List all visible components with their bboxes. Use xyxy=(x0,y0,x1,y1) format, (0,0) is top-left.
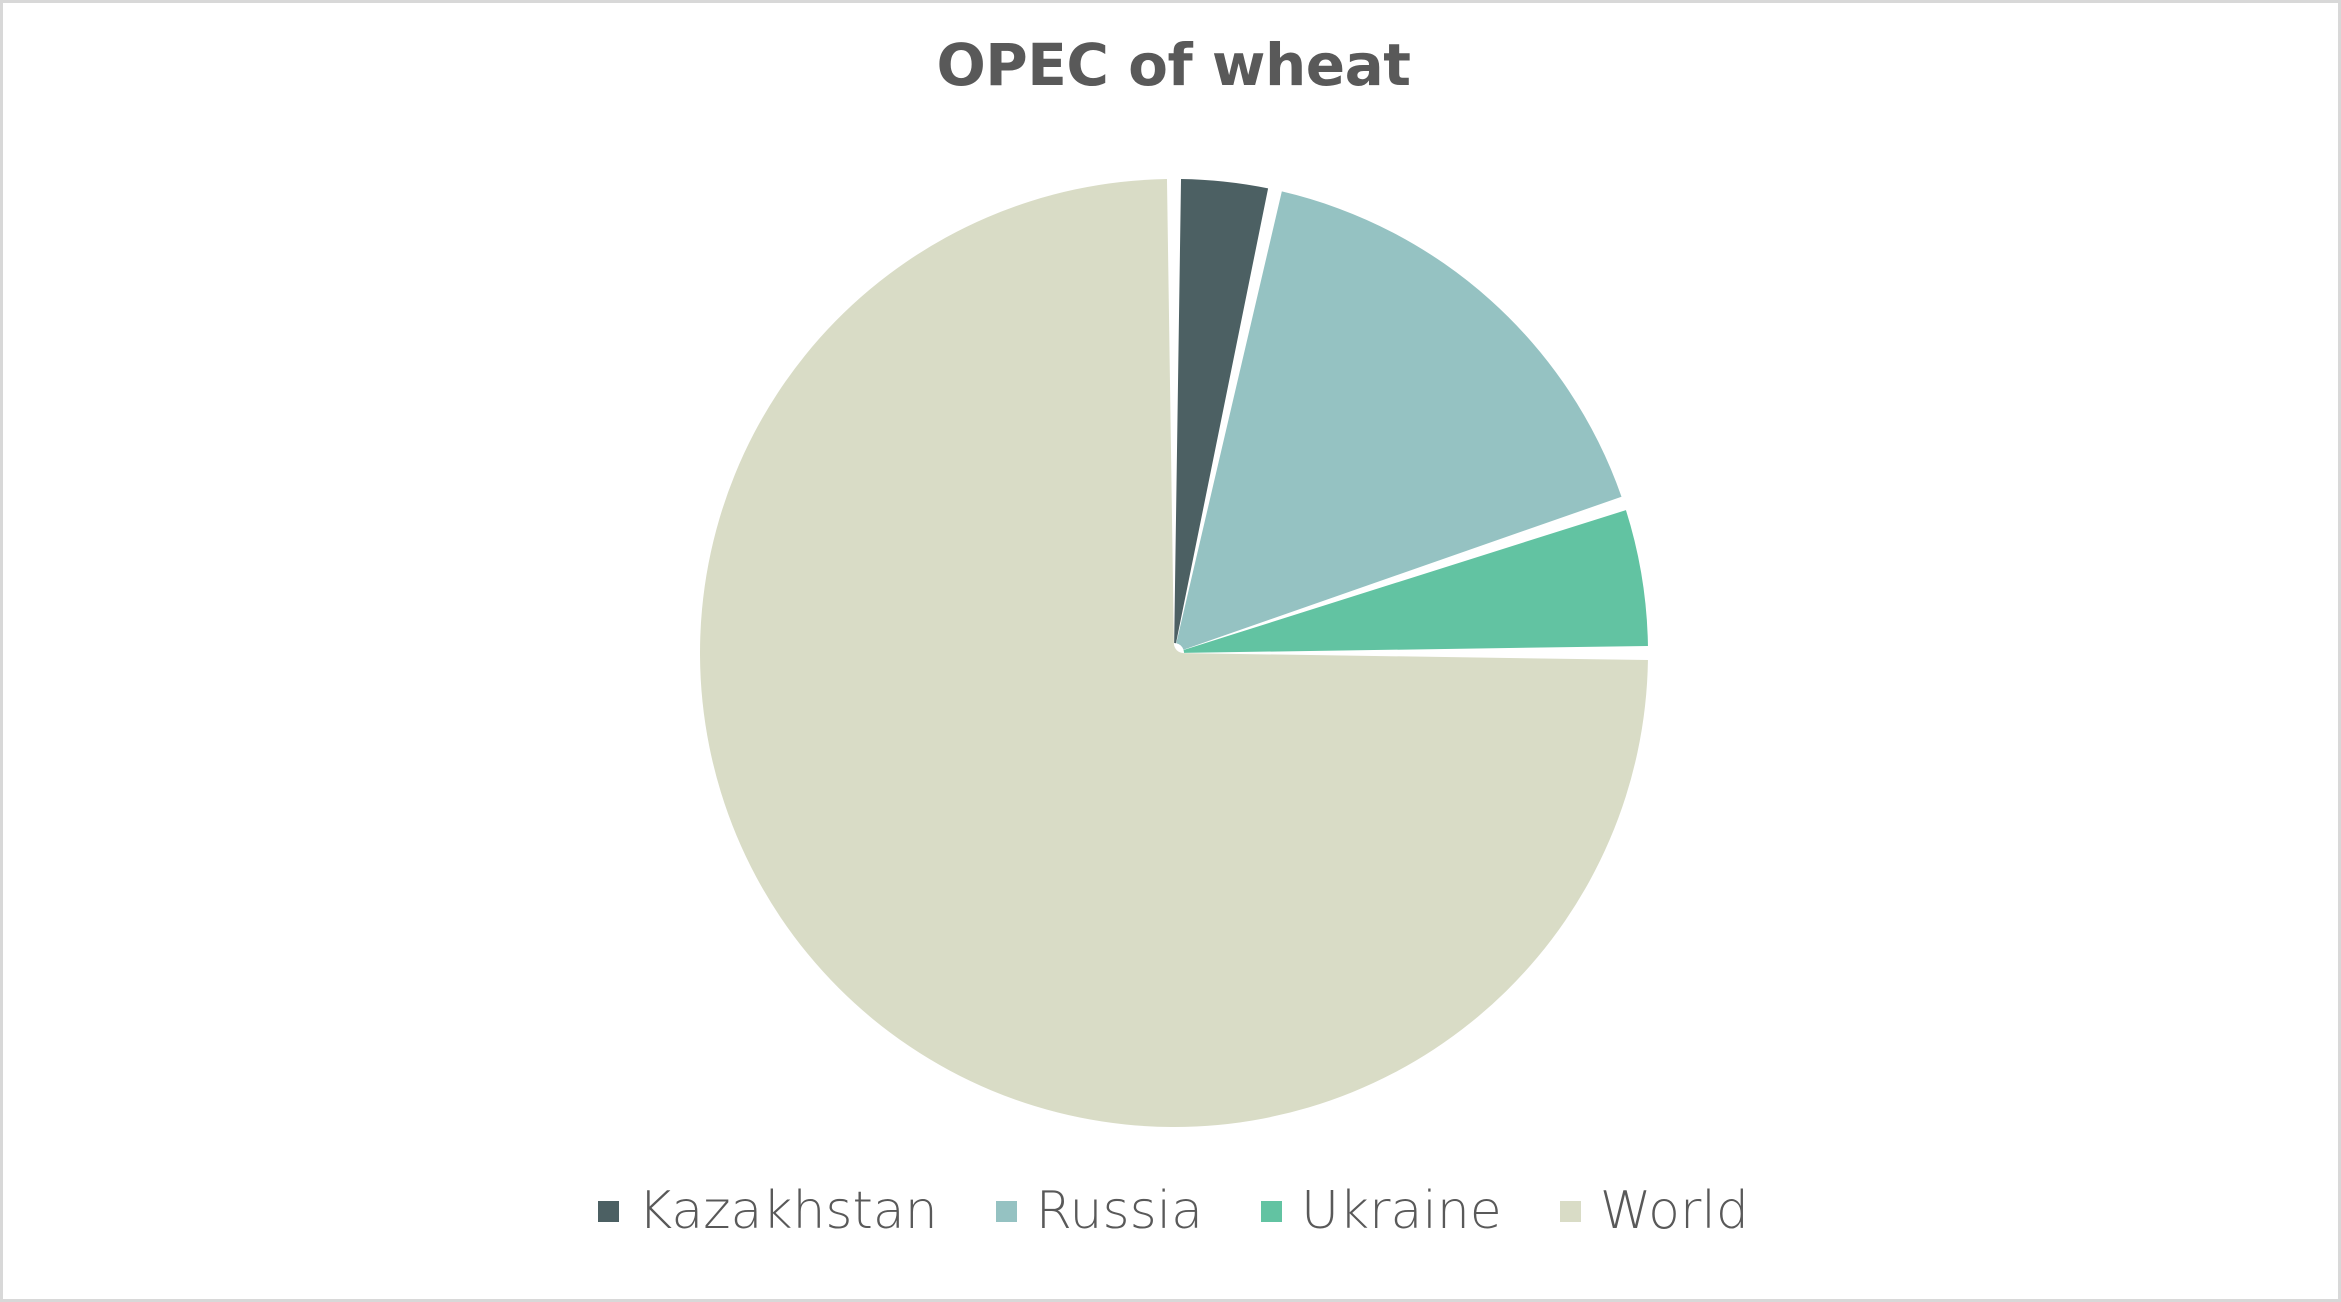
legend-swatch-icon xyxy=(1261,1201,1282,1222)
legend-item-world[interactable]: World xyxy=(1560,1185,1749,1237)
legend-swatch-icon xyxy=(1560,1201,1581,1222)
chart-container: OPEC of wheat KazakhstanRussiaUkraineWor… xyxy=(0,0,2341,1302)
legend-swatch-icon xyxy=(598,1201,619,1222)
legend-item-kazakhstan[interactable]: Kazakhstan xyxy=(598,1185,938,1237)
legend-item-russia[interactable]: Russia xyxy=(996,1185,1203,1237)
legend-item-label: Ukraine xyxy=(1301,1185,1502,1237)
pie-chart-svg xyxy=(3,3,2341,1183)
chart-legend: KazakhstanRussiaUkraineWorld xyxy=(3,1185,2341,1237)
legend-swatch-icon xyxy=(996,1201,1017,1222)
legend-item-ukraine[interactable]: Ukraine xyxy=(1261,1185,1502,1237)
legend-item-label: World xyxy=(1600,1185,1749,1237)
pie-plot-area xyxy=(3,3,2341,1183)
pie-slice-group xyxy=(700,179,1648,1127)
legend-item-label: Kazakhstan xyxy=(638,1185,938,1237)
legend-item-label: Russia xyxy=(1036,1185,1203,1237)
